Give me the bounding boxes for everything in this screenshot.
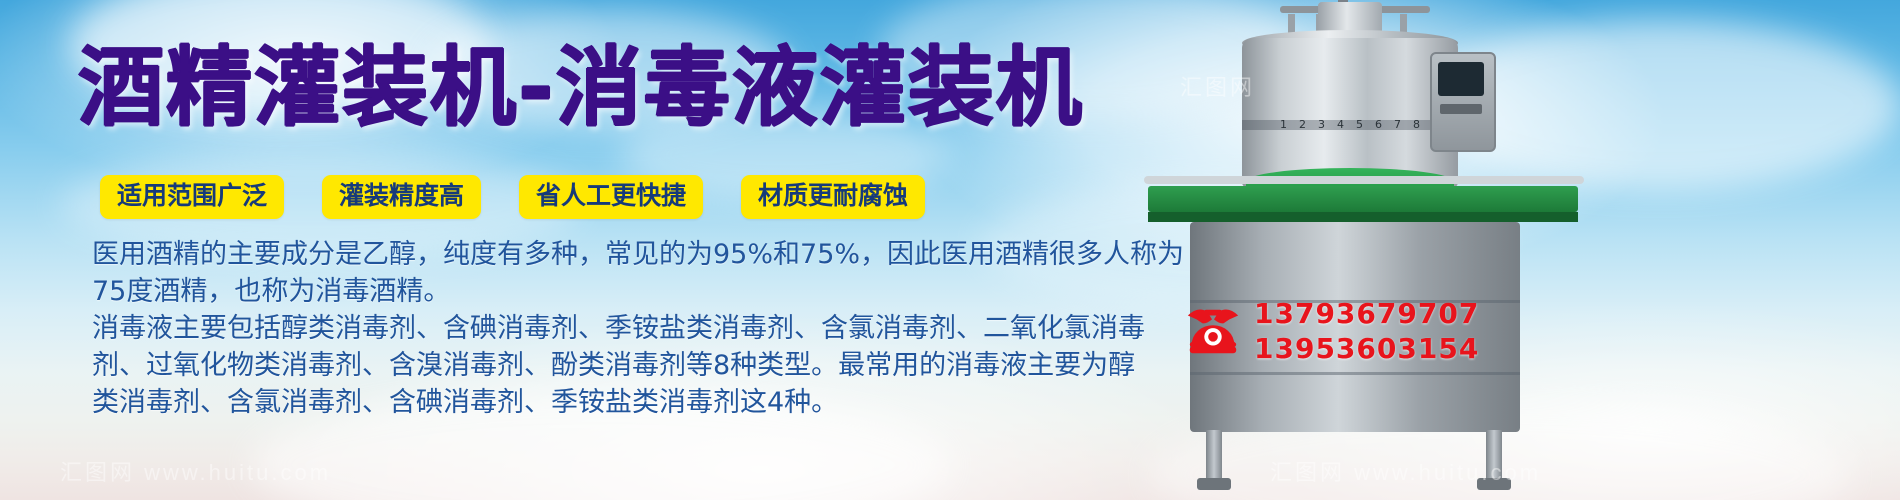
description-line: 消毒液主要包括醇类消毒剂、含碘消毒剂、季铵盐类消毒剂、含氯消毒剂、二氧化氯消毒 (92, 310, 1102, 347)
description-line: 医用酒精的主要成分是乙醇，纯度有多种，常见的为95%和75%，因此医用酒精很多人… (92, 236, 1102, 273)
machine-conveyor-base (1148, 212, 1578, 222)
machine-foot (1477, 478, 1511, 490)
promo-banner: 酒精灌装机-消毒液灌装机 适用范围广泛 灌装精度高 省人工更快捷 材质更耐腐蚀 … (0, 0, 1900, 500)
station-number: 1 (1280, 118, 1287, 131)
machine-station-numbers: 1 2 3 4 5 6 7 8 (1280, 118, 1430, 132)
machine-rotary-drum (1242, 38, 1458, 188)
contact-block: 13793679707 13953603154 (1182, 296, 1442, 370)
page-title: 酒精灌装机-消毒液灌装机 (78, 42, 1084, 134)
machine-guide-rail (1144, 176, 1584, 184)
machine-conveyor-belt (1148, 186, 1578, 212)
station-number: 8 (1413, 118, 1420, 131)
station-number: 2 (1299, 118, 1306, 131)
description-line: 类消毒剂、含氯消毒剂、含碘消毒剂、季铵盐类消毒剂这4种。 (92, 384, 1102, 421)
station-number: 7 (1394, 118, 1401, 131)
phone-number-primary[interactable]: 13793679707 (1254, 296, 1479, 331)
station-number: 3 (1318, 118, 1325, 131)
feature-pill-accuracy: 灌装精度高 (322, 175, 481, 219)
banner-text-content: 酒精灌装机-消毒液灌装机 适用范围广泛 灌装精度高 省人工更快捷 材质更耐腐蚀 … (0, 0, 1160, 500)
machine-foot (1197, 478, 1231, 490)
description-line: 75度酒精，也称为消毒酒精。 (92, 273, 1102, 310)
filling-machine-photo: 1 2 3 4 5 6 7 8 (1130, 0, 1690, 500)
machine-leg (1486, 430, 1502, 482)
station-number: 5 (1356, 118, 1363, 131)
description-line: 剂、过氧化物类消毒剂、含溴消毒剂、酚类消毒剂等8种类型。最常用的消毒液主要为醇 (92, 347, 1102, 384)
description-paragraph: 医用酒精的主要成分是乙醇，纯度有多种，常见的为95%和75%，因此医用酒精很多人… (92, 236, 1102, 421)
feature-pill-list: 适用范围广泛 灌装精度高 省人工更快捷 材质更耐腐蚀 (100, 175, 925, 219)
feature-pill-labor: 省人工更快捷 (519, 175, 703, 219)
machine-leg (1206, 430, 1222, 482)
machine-cabinet-seam (1190, 372, 1520, 375)
station-number: 6 (1375, 118, 1382, 131)
phone-number-list: 13793679707 13953603154 (1254, 296, 1479, 366)
phone-number-secondary[interactable]: 13953603154 (1254, 331, 1479, 366)
telephone-icon (1182, 302, 1244, 360)
machine-button-row (1440, 104, 1482, 114)
feature-pill-material: 材质更耐腐蚀 (741, 175, 925, 219)
machine-hmi-screen (1438, 62, 1484, 96)
station-number: 4 (1337, 118, 1344, 131)
feature-pill-scope: 适用范围广泛 (100, 175, 284, 219)
